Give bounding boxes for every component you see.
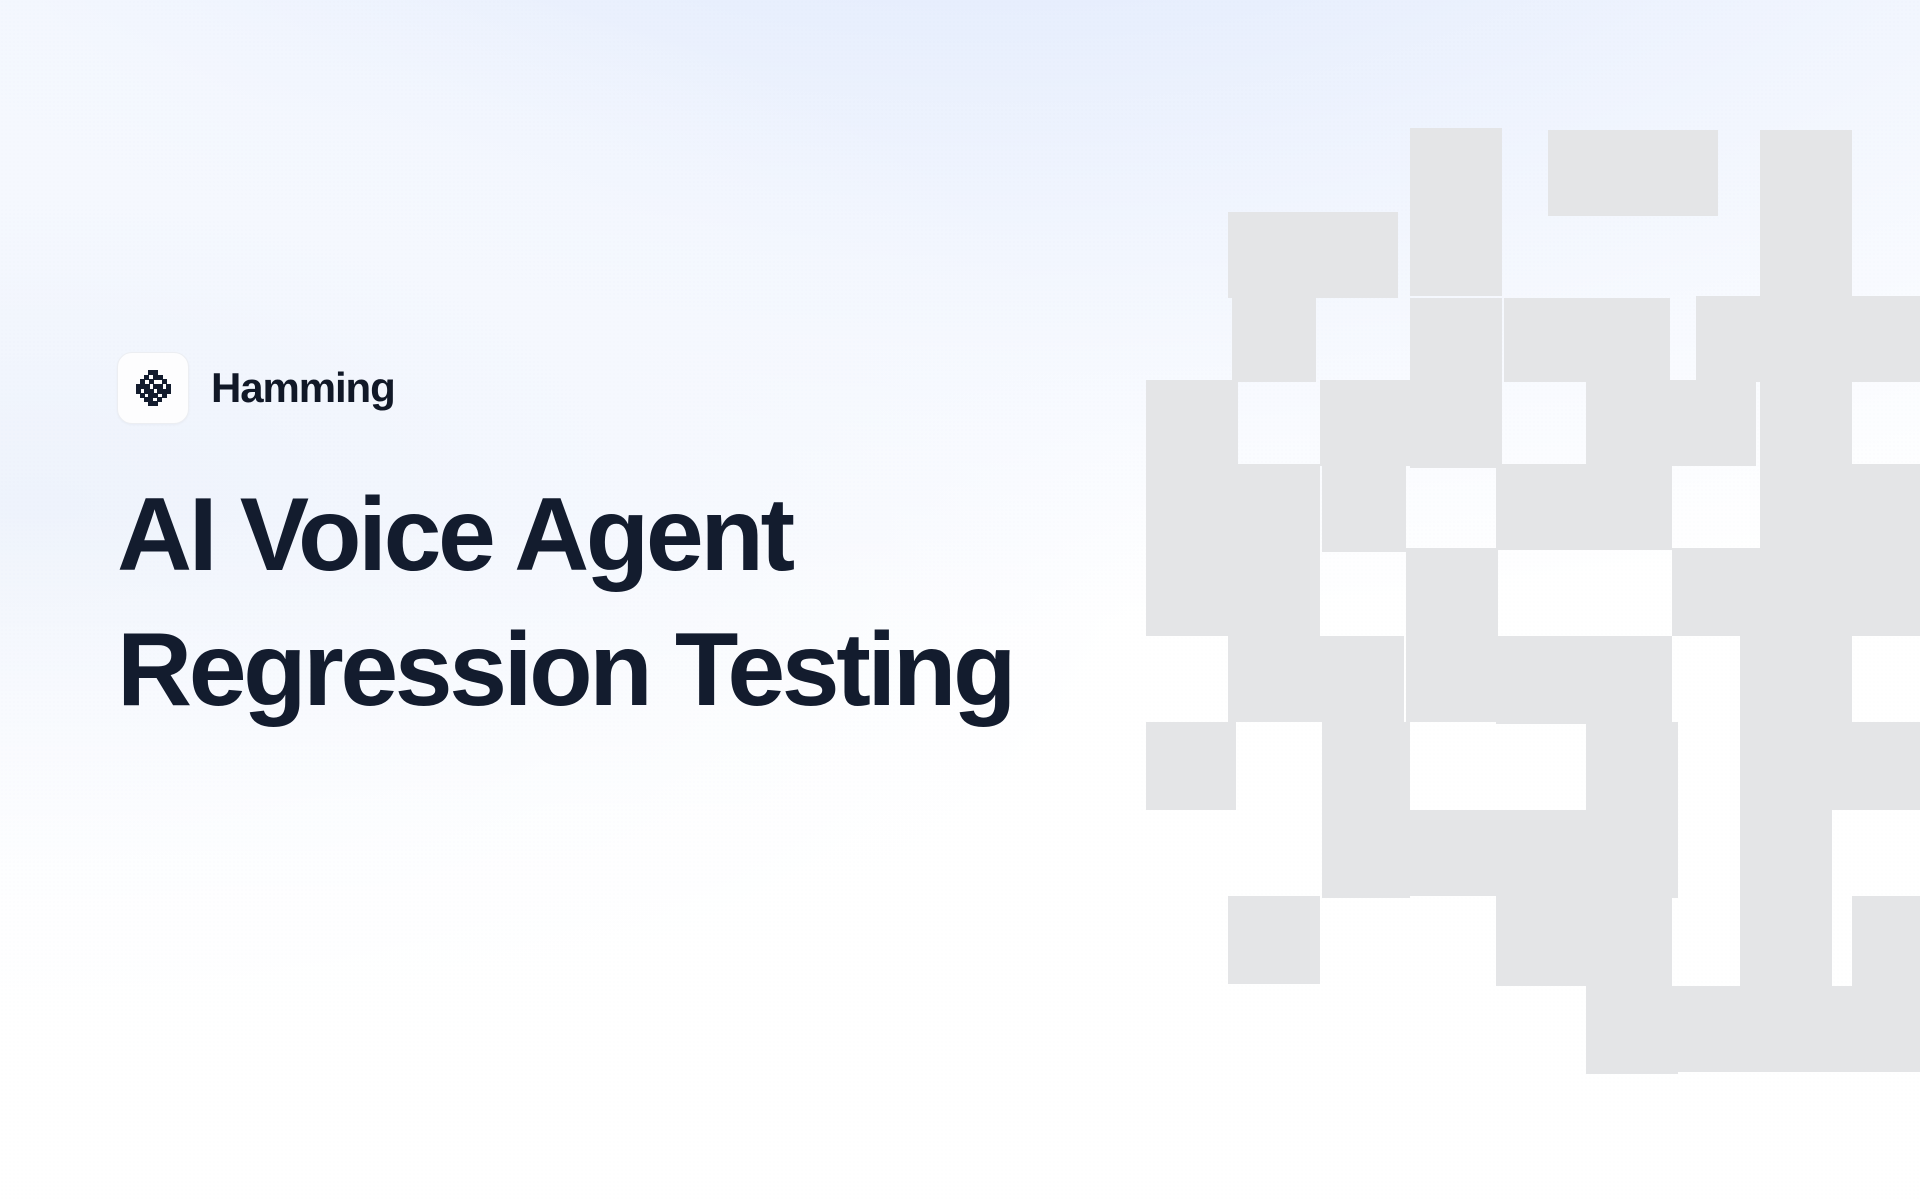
hamming-maze-logo-icon [117,352,189,424]
brand-name: Hamming [211,367,395,409]
cover-slide: Hamming AI Voice Agent Regression Testin… [0,0,1920,1201]
brand-row: Hamming [117,352,1237,424]
cover-content: Hamming AI Voice Agent Regression Testin… [117,352,1237,738]
page-title: AI Voice Agent Regression Testing [117,468,1177,738]
page-title-line-1: AI Voice Agent [117,468,1177,603]
page-title-line-2: Regression Testing [117,603,1177,738]
